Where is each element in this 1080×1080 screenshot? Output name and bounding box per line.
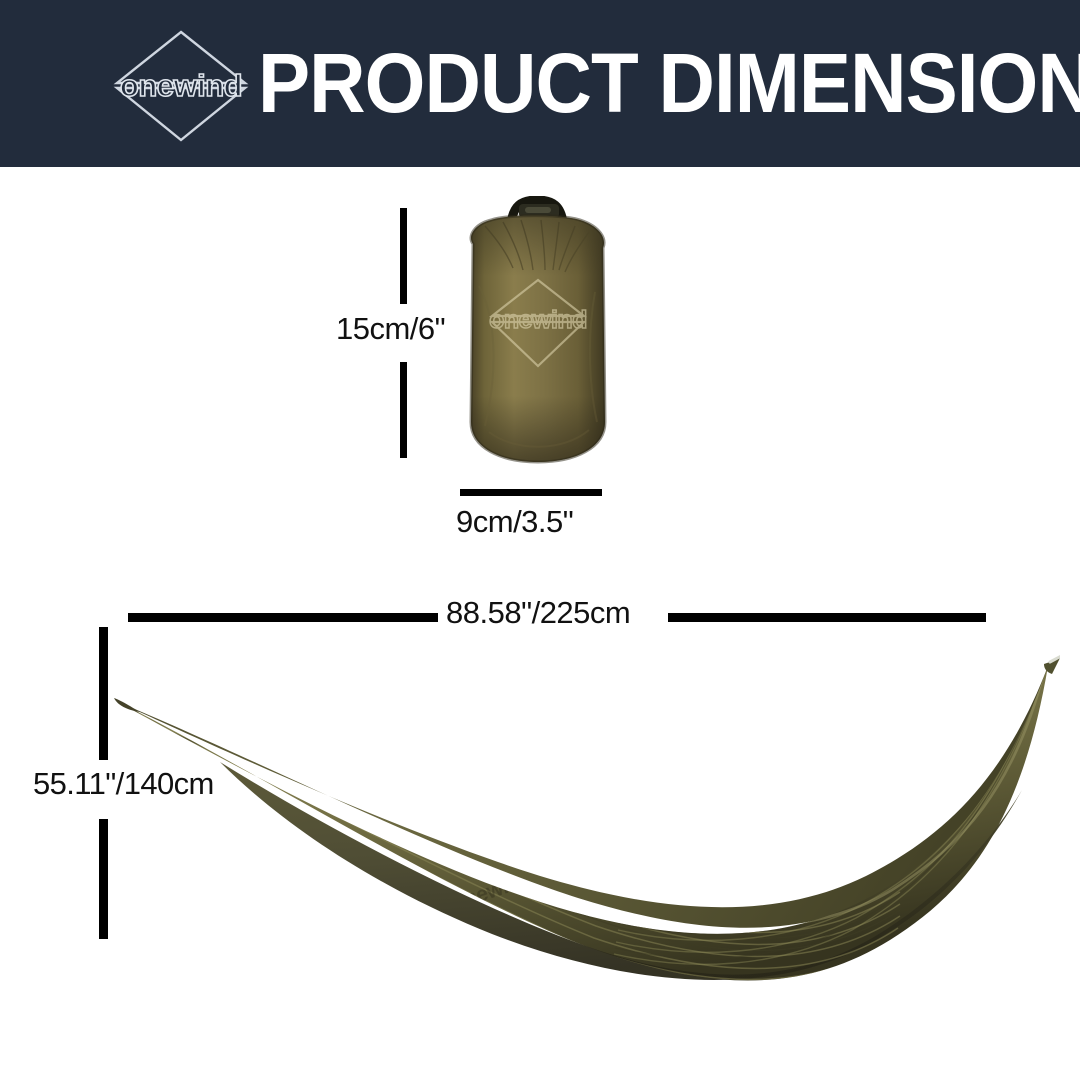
- dimension-line-segment: [668, 613, 986, 622]
- hammock-image: onewind: [100, 640, 1060, 1030]
- svg-text:onewind: onewind: [120, 68, 242, 103]
- dimension-line-segment: [400, 362, 407, 458]
- dimension-line-segment: [400, 208, 407, 304]
- onewind-diamond-logo: onewind: [105, 22, 257, 148]
- stuff-sack-image: onewind: [455, 196, 620, 468]
- dimension-line-segment: [128, 613, 438, 622]
- hammock-length-label: 88.58"/225cm: [446, 595, 630, 631]
- sack-width-dimension-line: [460, 489, 602, 496]
- hammock-width-label: 55.11"/140cm: [33, 766, 214, 802]
- sack-width-label: 9cm/3.5": [456, 504, 573, 540]
- page-title: PRODUCT DIMENSION: [258, 36, 909, 130]
- page-header: onewind PRODUCT DIMENSION: [0, 0, 1080, 167]
- sack-height-label: 15cm/6": [336, 311, 445, 347]
- dimension-line-segment: [99, 627, 108, 760]
- dimension-line-segment: [99, 819, 108, 939]
- svg-text:onewind: onewind: [489, 306, 587, 334]
